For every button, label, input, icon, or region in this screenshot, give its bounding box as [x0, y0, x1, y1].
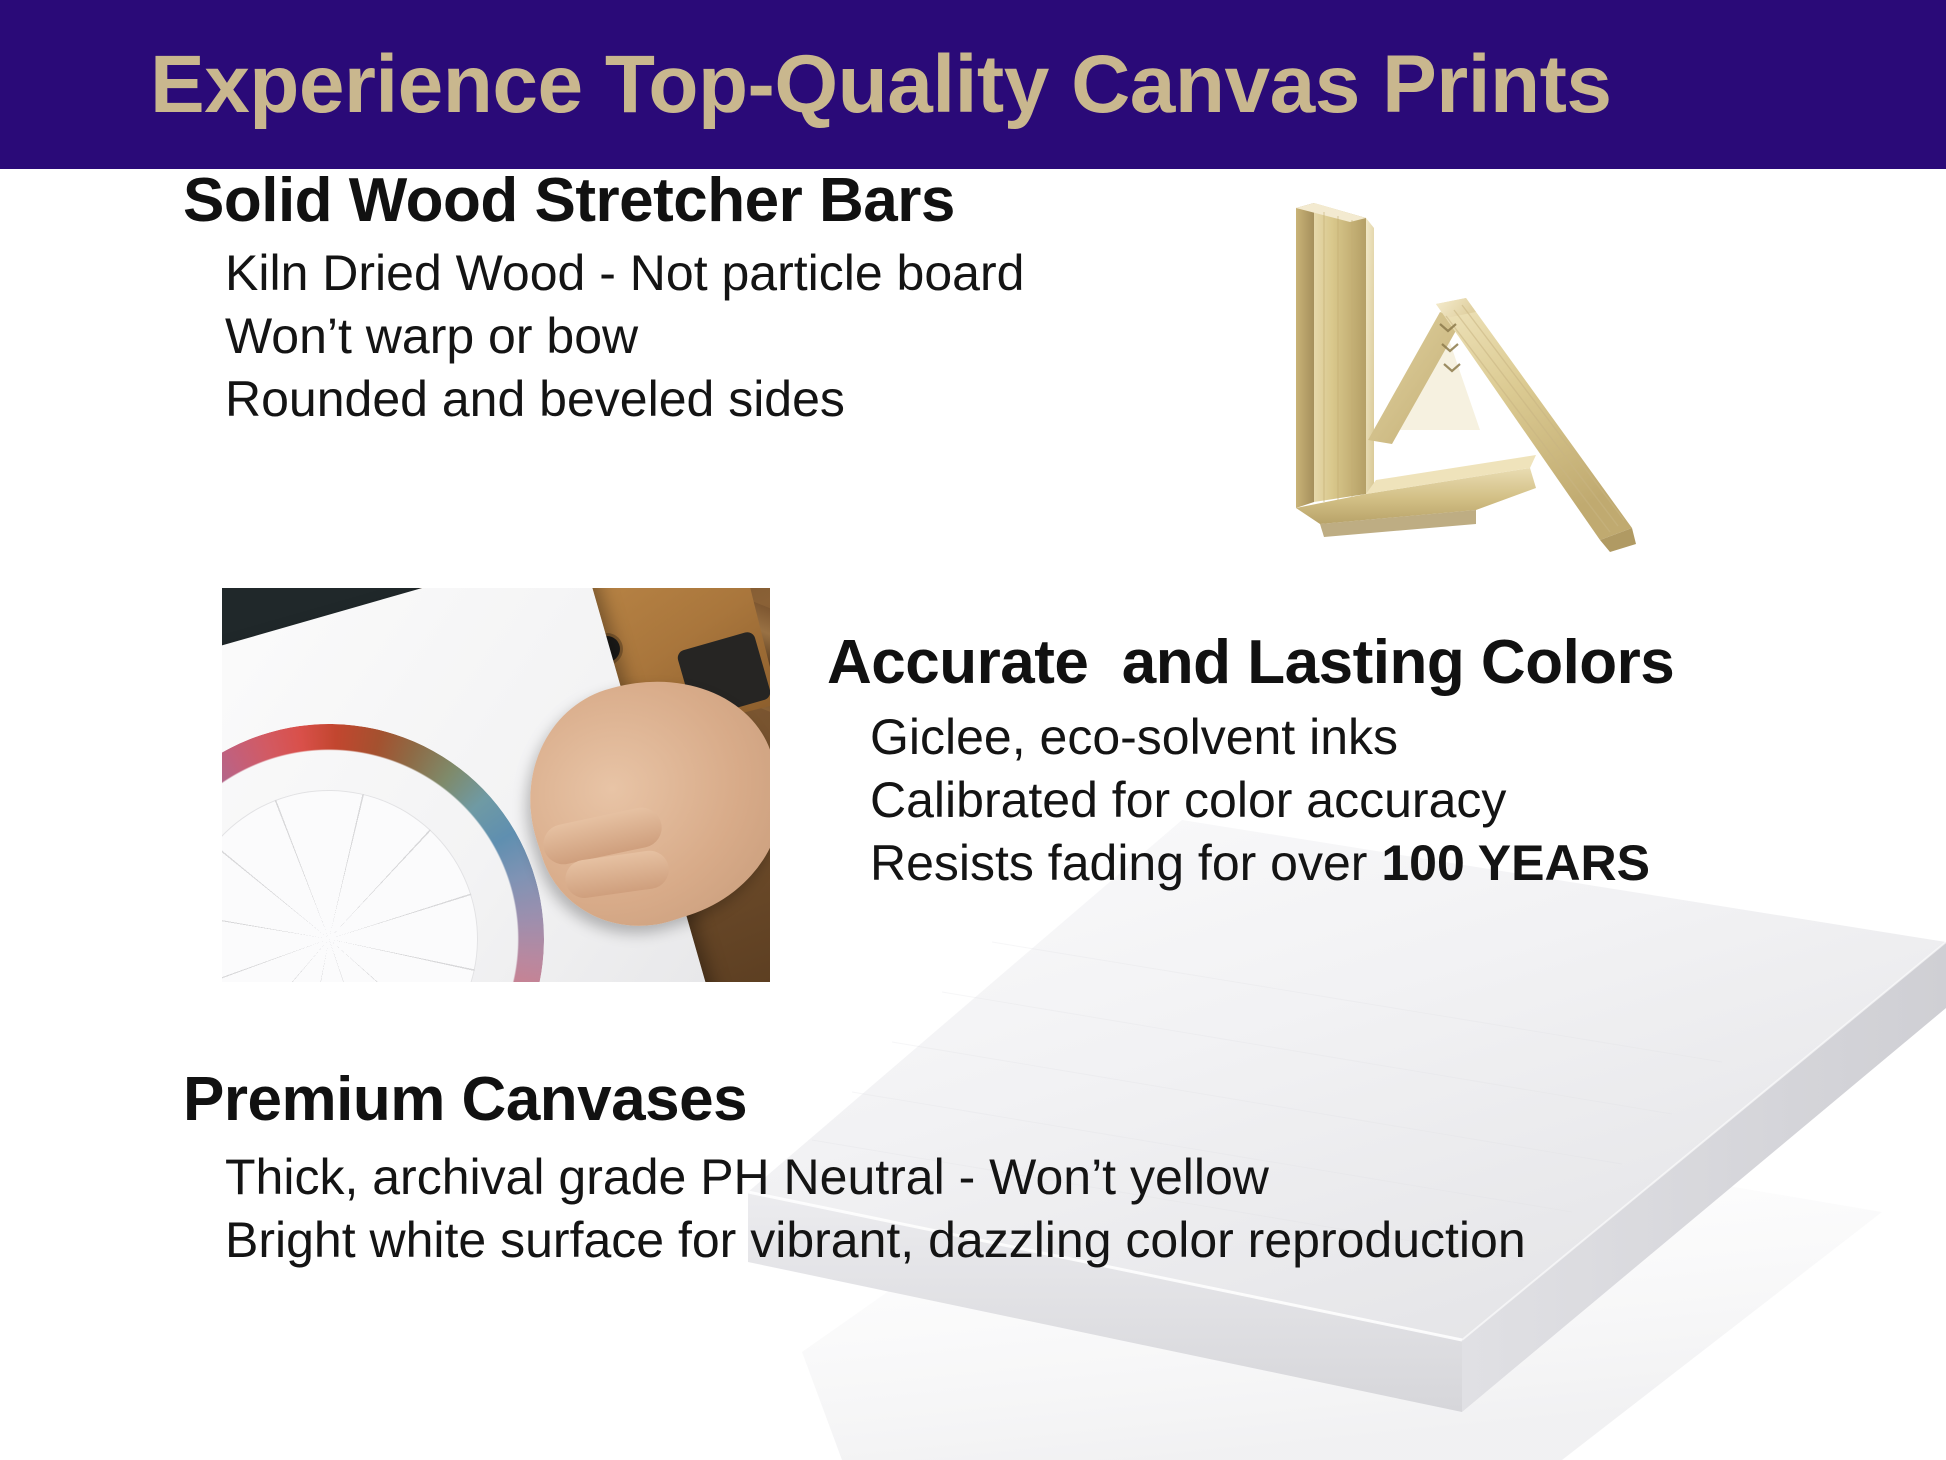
heading-solid-wood-stretcher-bars: Solid Wood Stretcher Bars [183, 168, 955, 233]
bullet-item: Giclee, eco-solvent inks [870, 712, 1650, 762]
bullet-list-canvases: Thick, archival grade PH Neutral - Won’t… [225, 1152, 1526, 1278]
bullet-item: Thick, archival grade PH Neutral - Won’t… [225, 1152, 1526, 1202]
bullet-item: Bright white surface for vibrant, dazzli… [225, 1215, 1526, 1265]
bullet-list-stretcher-bars: Kiln Dried Wood - Not particle board Won… [225, 248, 1024, 437]
page-title: Experience Top-Quality Canvas Prints [150, 44, 1611, 126]
bullet-item-emphasis: 100 YEARS [1381, 835, 1650, 891]
heading-accurate-and-lasting-colors: Accurate and Lasting Colors [827, 630, 1674, 695]
bullet-item: Calibrated for color accuracy [870, 775, 1650, 825]
bullet-item: Kiln Dried Wood - Not particle board [225, 248, 1024, 298]
heading-premium-canvases: Premium Canvases [183, 1067, 747, 1132]
canvas-prints-infographic: { "header": { "title": "Experience Top-Q… [0, 0, 1946, 1460]
bullet-list-colors: Giclee, eco-solvent inks Calibrated for … [870, 712, 1650, 901]
bullet-item: Resists fading for over 100 YEARS [870, 838, 1650, 888]
wood-stretcher-bars-photo [1280, 172, 1680, 552]
bullet-item-text: Resists fading for over [870, 835, 1381, 891]
color-wheel-photo [222, 588, 770, 982]
header-banner: Experience Top-Quality Canvas Prints [0, 0, 1946, 169]
bullet-item: Won’t warp or bow [225, 311, 1024, 361]
bullet-item: Rounded and beveled sides [225, 374, 1024, 424]
